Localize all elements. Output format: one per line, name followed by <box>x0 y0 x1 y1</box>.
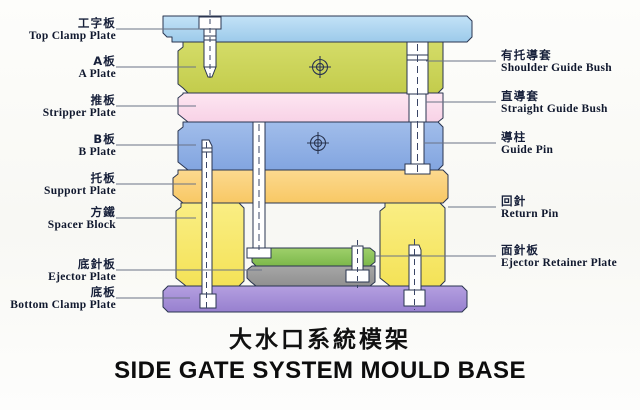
label-spacer-block: 方鐵 Spacer Block <box>0 207 116 231</box>
label-a-plate: A板 A Plate <box>0 56 116 80</box>
label-en: A Plate <box>0 69 116 81</box>
label-cn: B板 <box>0 134 116 146</box>
label-cn: 導柱 <box>501 132 553 144</box>
label-en: Shoulder Guide Bush <box>501 63 612 75</box>
label-ejector-plate: 底針板 Ejector Plate <box>0 259 116 283</box>
label-cn: 面針板 <box>501 245 617 257</box>
label-en: Ejector Plate <box>0 272 116 284</box>
diagram-title: 大水口系統模架 SIDE GATE SYSTEM MOULD BASE <box>0 320 640 385</box>
label-en: Spacer Block <box>0 220 116 232</box>
label-cn: 底板 <box>0 287 116 299</box>
label-en: Ejector Retainer Plate <box>501 258 617 270</box>
label-shoulder-guide-bush: 有托導套 Shoulder Guide Bush <box>501 50 612 74</box>
label-b-plate: B板 B Plate <box>0 134 116 158</box>
label-cn: A板 <box>0 56 116 68</box>
label-cn: 推板 <box>0 95 116 107</box>
label-en: Top Clamp Plate <box>0 31 116 43</box>
label-ejector-retainer-plate: 面針板 Ejector Retainer Plate <box>501 245 617 269</box>
straight-guide-bush-part <box>409 94 426 122</box>
plate-support-plate <box>173 170 448 203</box>
label-cn: 回針 <box>501 196 559 208</box>
label-stripper-plate: 推板 Stripper Plate <box>0 95 116 119</box>
label-cn: 底針板 <box>0 259 116 271</box>
plate-b-plate <box>178 122 443 170</box>
title-chinese: 大水口系統模架 <box>0 320 640 354</box>
label-en: Return Pin <box>501 209 559 221</box>
label-cn: 方鐵 <box>0 207 116 219</box>
label-en: Support Plate <box>0 186 116 198</box>
label-cn: 有托導套 <box>501 50 612 62</box>
label-cn: 直導套 <box>501 91 608 103</box>
label-en: Straight Guide Bush <box>501 104 608 116</box>
label-cn: 工字板 <box>0 18 116 30</box>
label-cn: 托板 <box>0 173 116 185</box>
label-bottom-clamp-plate: 底板 Bottom Clamp Plate <box>0 287 116 311</box>
label-en: B Plate <box>0 147 116 159</box>
label-top-clamp-plate: 工字板 Top Clamp Plate <box>0 18 116 42</box>
diagram-page: 工字板 Top Clamp Plate A板 A Plate 推板 Stripp… <box>0 0 640 410</box>
title-english: SIDE GATE SYSTEM MOULD BASE <box>0 357 640 385</box>
label-straight-guide-bush: 直導套 Straight Guide Bush <box>501 91 608 115</box>
label-support-plate: 托板 Support Plate <box>0 173 116 197</box>
label-guide-pin: 導柱 Guide Pin <box>501 132 553 156</box>
label-en: Guide Pin <box>501 145 553 157</box>
label-en: Stripper Plate <box>0 108 116 120</box>
label-en: Bottom Clamp Plate <box>0 300 116 312</box>
plate-stripper-plate <box>178 93 443 122</box>
label-return-pin: 回針 Return Pin <box>501 196 559 220</box>
